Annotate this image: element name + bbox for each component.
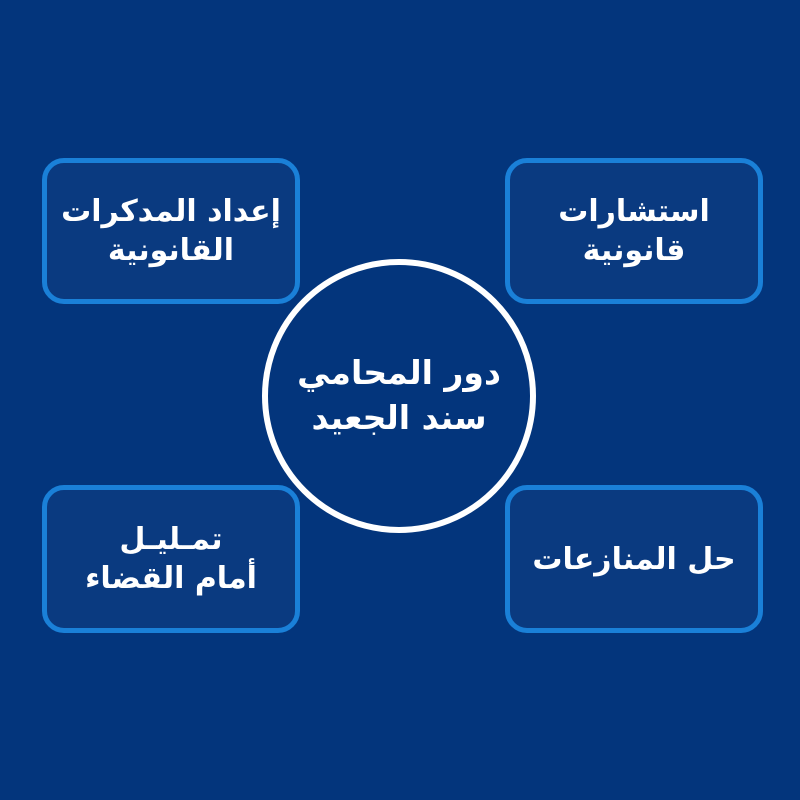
node-label-line2: قانونية [583,231,686,270]
node-label-line1: تمـليـل [119,520,222,559]
center-title-line2: سند الجعيد [311,396,486,441]
node-label-line1: استشارات [558,192,710,231]
node-label-line1: إعداد المدكرات [61,192,281,231]
node-box-legal-memos[interactable]: إعداد المدكرات القانونية [42,158,300,304]
center-title-line1: دور المحامي [297,351,501,396]
infographic-canvas: إعداد المدكرات القانونية استشارات قانوني… [0,0,800,800]
node-label-line1: حل المنازعات [532,540,735,579]
node-label-line2: أمام القضاء [85,559,257,598]
node-box-legal-consultations[interactable]: استشارات قانونية [505,158,763,304]
node-box-court-representation[interactable]: تمـليـل أمام القضاء [42,485,300,633]
center-circle-title[interactable]: دور المحامي سند الجعيد [262,259,536,533]
node-label-line2: القانونية [108,231,234,270]
node-box-dispute-resolution[interactable]: حل المنازعات [505,485,763,633]
